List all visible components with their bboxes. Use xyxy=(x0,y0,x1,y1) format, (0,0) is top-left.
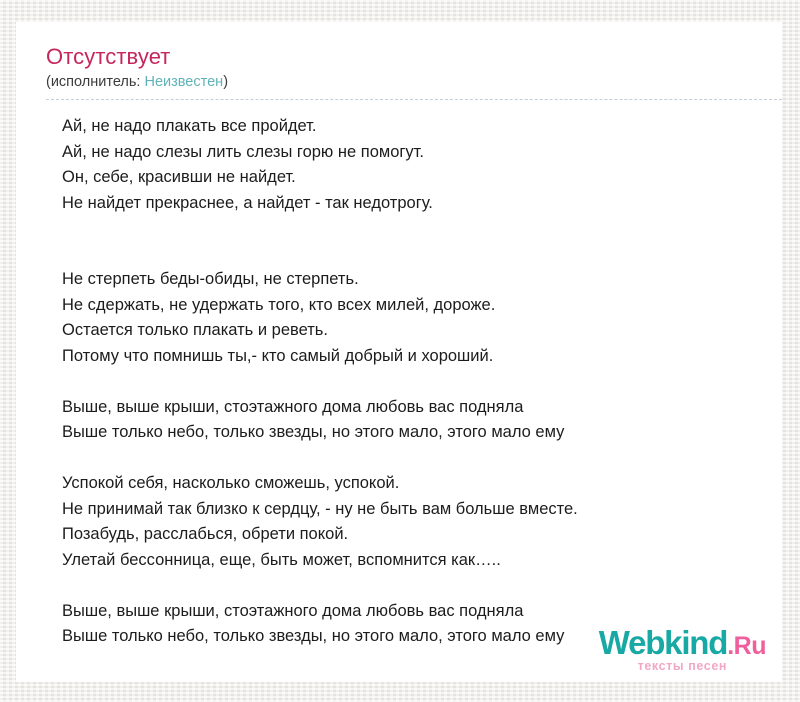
site-watermark[interactable]: Webkind.Ru тексты песен xyxy=(599,626,766,673)
artist-link[interactable]: Неизвестен xyxy=(144,74,223,90)
lyric-line: Не сдержать, не удержать того, кто всех … xyxy=(62,293,758,319)
artist-label-prefix: (исполнитель: xyxy=(46,74,144,90)
page-title: Отсутствует xyxy=(46,44,758,70)
content-sheet-inner: Отсутствует (исполнитель: Неизвестен) Ай… xyxy=(16,22,782,682)
lyric-line: Выше только небо, только звезды, но этог… xyxy=(62,420,758,446)
lyric-blank-line xyxy=(62,446,758,472)
lyric-line: Улетай бессонница, еще, быть может, вспо… xyxy=(62,548,758,574)
lyric-line: Не стерпеть беды-обиды, не стерпеть. xyxy=(62,267,758,293)
watermark-brand: Webkind.Ru xyxy=(599,626,766,659)
lyric-line: Не принимай так близко к сердцу, - ну не… xyxy=(62,497,758,523)
lyric-line: Ай, не надо плакать все пройдет. xyxy=(62,114,758,140)
lyric-line: Остается только плакать и реветь. xyxy=(62,318,758,344)
artist-label-suffix: ) xyxy=(223,74,228,90)
artist-line: (исполнитель: Неизвестен) xyxy=(46,73,758,92)
lyric-blank-line xyxy=(62,216,758,242)
lyric-line: Ай, не надо слезы лить слезы горю не пом… xyxy=(62,140,758,166)
header-divider xyxy=(46,99,782,100)
lyric-line: Не найдет прекраснее, а найдет - так нед… xyxy=(62,191,758,217)
content-sheet: Отсутствует (исполнитель: Неизвестен) Ай… xyxy=(16,22,782,682)
watermark-brand-tld: .Ru xyxy=(727,632,766,660)
lyric-line: Выше, выше крыши, стоэтажного дома любов… xyxy=(62,599,758,625)
lyric-blank-line xyxy=(62,242,758,268)
lyric-line: Успокой себя, насколько сможешь, успокой… xyxy=(62,471,758,497)
lyric-line: Позабудь, расслабься, обрети покой. xyxy=(62,522,758,548)
lyric-line: Он, себе, красивши не найдет. xyxy=(62,165,758,191)
lyrics-body: Ай, не надо плакать все пройдет.Ай, не н… xyxy=(46,100,758,650)
lyric-line: Выше, выше крыши, стоэтажного дома любов… xyxy=(62,395,758,421)
lyric-blank-line xyxy=(62,573,758,599)
watermark-brand-name: Webkind xyxy=(599,624,728,661)
lyric-blank-line xyxy=(62,369,758,395)
lyric-line: Потому что помнишь ты,- кто самый добрый… xyxy=(62,344,758,370)
watermark-tagline: тексты песен xyxy=(599,660,766,673)
